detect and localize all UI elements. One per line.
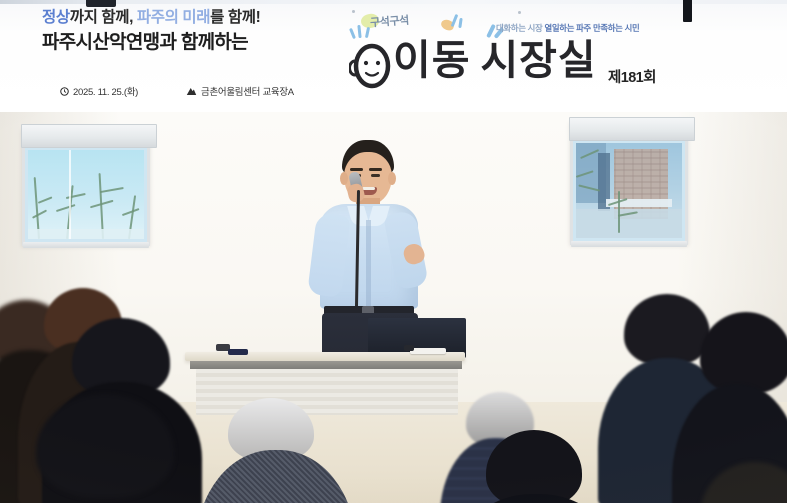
- speaker-shirt-placket: [366, 220, 371, 308]
- banner-headline-block: 정상까지 함께, 파주의 미래를 함께! 파주시산악연맹과 함께하는: [42, 8, 372, 56]
- speaker-eye-right: [371, 174, 380, 177]
- event-photo-scene: 정상까지 함께, 파주의 미래를 함께! 파주시산악연맹과 함께하는 2025.…: [0, 0, 787, 503]
- audience-head: [624, 294, 710, 366]
- desk-item-case: [228, 349, 248, 355]
- banner-meta-row: 2025. 11. 25.(화) 금촌어울림센터 교육장A: [60, 84, 294, 98]
- pine-needle: [100, 187, 124, 193]
- headline-accent-strong: 정상: [42, 9, 70, 26]
- event-venue-item: 금촌어울림센터 교육장A: [186, 84, 294, 98]
- slogan-emphasis: 열일하는 파주 만족하는 시민: [544, 23, 639, 33]
- window-right: [570, 122, 688, 245]
- speaker-ear-left: [340, 172, 348, 185]
- banner-clip-left-icon: [86, 0, 116, 7]
- desk-item-pen: [404, 345, 414, 351]
- window-sill-left: [23, 242, 149, 248]
- event-banner: 정상까지 함께, 파주의 미래를 함께! 파주시산악연맹과 함께하는 2025.…: [0, 0, 787, 112]
- window-glass-left: [28, 150, 144, 239]
- desk-item-paper: [410, 348, 446, 354]
- session-number-label: 제181회: [608, 66, 656, 87]
- speaker-brow-right: [369, 168, 382, 171]
- logo-main-part1: 이동: [393, 36, 470, 84]
- banner-clip-right-icon: [683, 0, 692, 22]
- window-ledge-outside: [28, 229, 144, 239]
- mountain-icon: [186, 87, 197, 96]
- headline-tail-text: 를 함께!: [210, 9, 260, 26]
- city-slogan: 대화하는 시장 열일하는 파주 만족하는 시민: [496, 22, 639, 34]
- mobile-mayor-office-logo: 구석구석 이동시장실: [345, 4, 595, 104]
- event-date-item: 2025. 11. 25.(화): [60, 84, 138, 98]
- front-desk-apron: [190, 361, 462, 369]
- slogan-part1: 대화하는 시장: [496, 23, 544, 33]
- front-desk-modesty-panel: [196, 369, 458, 415]
- logo-main-text: 이동시장실: [353, 26, 597, 86]
- pine-needle: [56, 204, 76, 212]
- headline-accent-light: 파주의 미래: [137, 9, 210, 26]
- logo-main-part2: 시장실: [480, 36, 596, 84]
- window-blind-left: [21, 124, 157, 148]
- window-glass-right: [576, 143, 682, 238]
- speaker-brow-left: [350, 168, 363, 171]
- window-mullion: [69, 150, 71, 239]
- pine-needle: [32, 209, 47, 218]
- audience-head: [700, 312, 787, 394]
- event-venue-label: 금촌어울림센터 교육장A: [201, 84, 294, 98]
- banner-headline-line2: 파주시산악연맹과 함께하는: [42, 30, 372, 56]
- banner-headline-line1: 정상까지 함께, 파주의 미래를 함께!: [42, 8, 372, 28]
- room-photograph: [0, 112, 787, 503]
- event-date-label: 2025. 11. 25.(화): [73, 84, 138, 98]
- window-left: [22, 129, 150, 246]
- clock-icon: [60, 87, 69, 96]
- pine-branch: [618, 191, 620, 233]
- window-sill-right: [571, 241, 687, 247]
- window-blind-right: [569, 117, 695, 141]
- headline-mid-text: 까지 함께,: [70, 9, 137, 26]
- speaker-ear-right: [388, 172, 396, 185]
- pine-needle: [38, 196, 53, 203]
